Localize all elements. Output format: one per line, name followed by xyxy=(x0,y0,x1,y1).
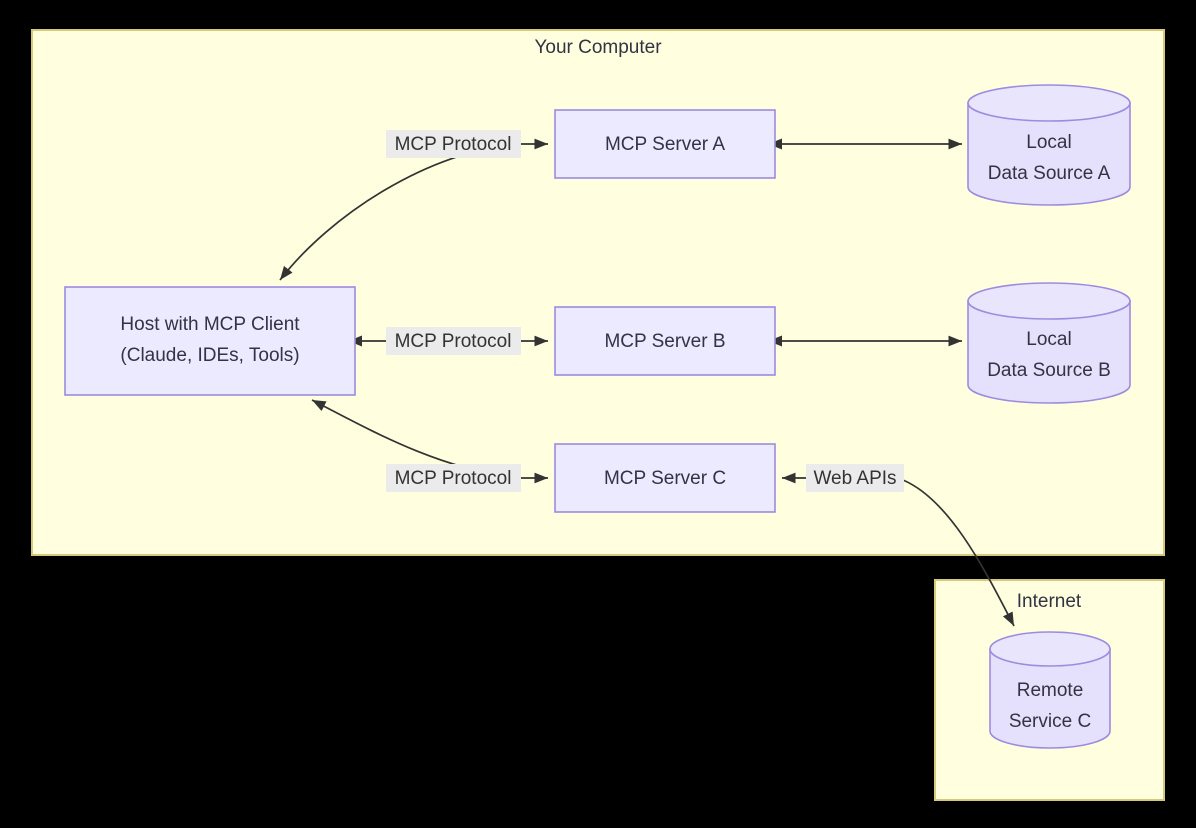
node-data-source-a-label-line1: Local xyxy=(1026,132,1071,153)
node-data-source-b[interactable]: Local Data Source B xyxy=(968,283,1130,403)
edge-label-protocol-c-text: MCP Protocol xyxy=(395,468,512,489)
node-data-source-a-top xyxy=(968,85,1130,121)
node-server-a[interactable]: MCP Server A xyxy=(555,110,775,178)
edge-label-web-apis-text: Web APIs xyxy=(813,468,896,489)
node-host-rect[interactable] xyxy=(65,287,355,395)
edge-label-protocol-b-text: MCP Protocol xyxy=(395,331,512,352)
edge-label-protocol-b: MCP Protocol xyxy=(386,327,521,355)
node-data-source-b-label-line2: Data Source B xyxy=(987,360,1111,381)
node-data-source-b-label-line1: Local xyxy=(1026,329,1071,350)
edge-label-protocol-a-text: MCP Protocol xyxy=(395,134,512,155)
node-remote-service-c-top xyxy=(990,632,1110,666)
node-server-c-label: MCP Server C xyxy=(604,468,726,489)
node-data-source-b-top xyxy=(968,283,1130,319)
node-host-label-line1: Host with MCP Client xyxy=(120,314,300,335)
node-remote-service-c-label-line1: Remote xyxy=(1017,680,1084,701)
architecture-diagram: Your Computer Internet xyxy=(0,0,1196,828)
node-server-a-label: MCP Server A xyxy=(605,134,725,155)
node-remote-service-c[interactable]: Remote Service C xyxy=(990,632,1110,748)
node-remote-service-c-label-line2: Service C xyxy=(1009,711,1091,732)
panel-your-computer-title: Your Computer xyxy=(534,37,662,58)
edge-label-protocol-c: MCP Protocol xyxy=(386,464,521,492)
node-data-source-a[interactable]: Local Data Source A xyxy=(968,85,1130,205)
edge-label-protocol-a: MCP Protocol xyxy=(386,130,521,158)
diagram-canvas: Your Computer Internet xyxy=(0,0,1196,828)
node-server-b[interactable]: MCP Server B xyxy=(555,307,775,375)
edge-label-web-apis: Web APIs xyxy=(806,464,904,492)
node-server-b-label: MCP Server B xyxy=(604,331,725,352)
panel-internet-title: Internet xyxy=(1017,591,1082,612)
node-host-label-line2: (Claude, IDEs, Tools) xyxy=(120,345,299,366)
node-data-source-a-label-line2: Data Source A xyxy=(988,163,1111,184)
node-server-c[interactable]: MCP Server C xyxy=(555,444,775,512)
node-host[interactable]: Host with MCP Client (Claude, IDEs, Tool… xyxy=(65,287,355,395)
